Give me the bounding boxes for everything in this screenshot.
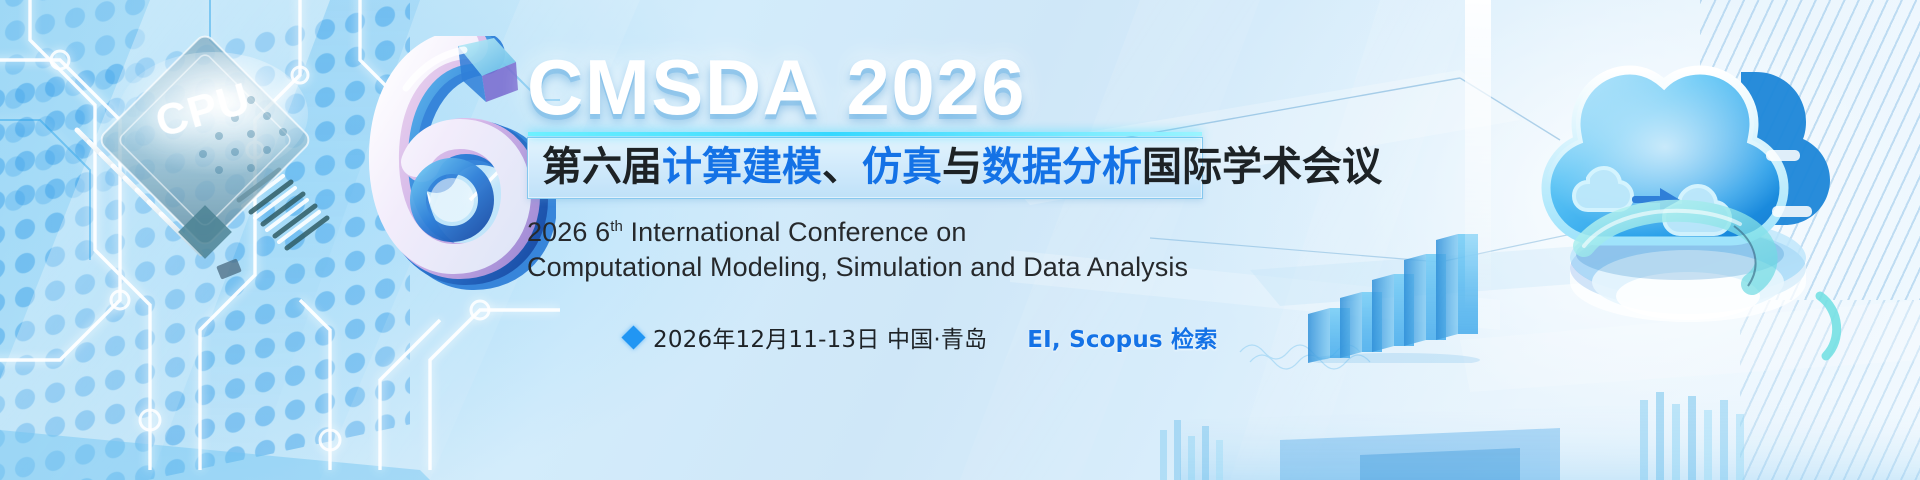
english-title-line2: Computational Modeling, Simulation and D… [527, 250, 1227, 285]
english-title-line1: 2026 6th International Conference on [527, 215, 1227, 250]
info-row: 2026年12月11-13日 中国·青岛 EI, Scopus 检索 [625, 320, 1217, 354]
cn-seg-6: 国际学术会议 [1142, 144, 1382, 190]
acronym-year: 2026 [847, 43, 1027, 131]
indexing-badge: EI, Scopus 检索 [1027, 320, 1217, 354]
cn-seg-5: 数据分析 [982, 144, 1142, 190]
acronym-name: CMSDA [527, 43, 821, 131]
en-line1-post: International Conference on [623, 217, 967, 247]
title-text-block: CMSDA2026 第六届计算建模、仿真与数据分析国际学术会议 2026 6th… [527, 44, 1227, 354]
cloud-computing-icon [1520, 10, 1880, 370]
cn-seg-0: 第六届 [542, 144, 662, 190]
chinese-title-bar: 第六届计算建模、仿真与数据分析国际学术会议 [527, 137, 1203, 199]
ordinal-suffix: th [610, 218, 623, 235]
cn-seg-2: 、 [822, 144, 862, 190]
chinese-title: 第六届计算建模、仿真与数据分析国际学术会议 [542, 144, 1190, 190]
date-location-text: 2026年12月11-13日 中国·青岛 [653, 320, 987, 354]
cpu-chip-icon: CPU [55, 22, 355, 287]
diamond-icon [621, 325, 645, 349]
conference-banner: CPU [0, 0, 1920, 480]
cn-seg-4: 与 [942, 144, 982, 190]
chinese-title-wrap: 第六届计算建模、仿真与数据分析国际学术会议 [527, 137, 1203, 199]
en-line1-pre: 2026 6 [527, 217, 610, 247]
cn-seg-1: 计算建模 [662, 144, 822, 190]
english-title: 2026 6th International Conference on Com… [527, 215, 1227, 285]
light-column-right [1465, 0, 1491, 310]
cn-seg-3: 仿真 [862, 144, 942, 190]
conference-acronym: CMSDA2026 [527, 44, 1227, 130]
